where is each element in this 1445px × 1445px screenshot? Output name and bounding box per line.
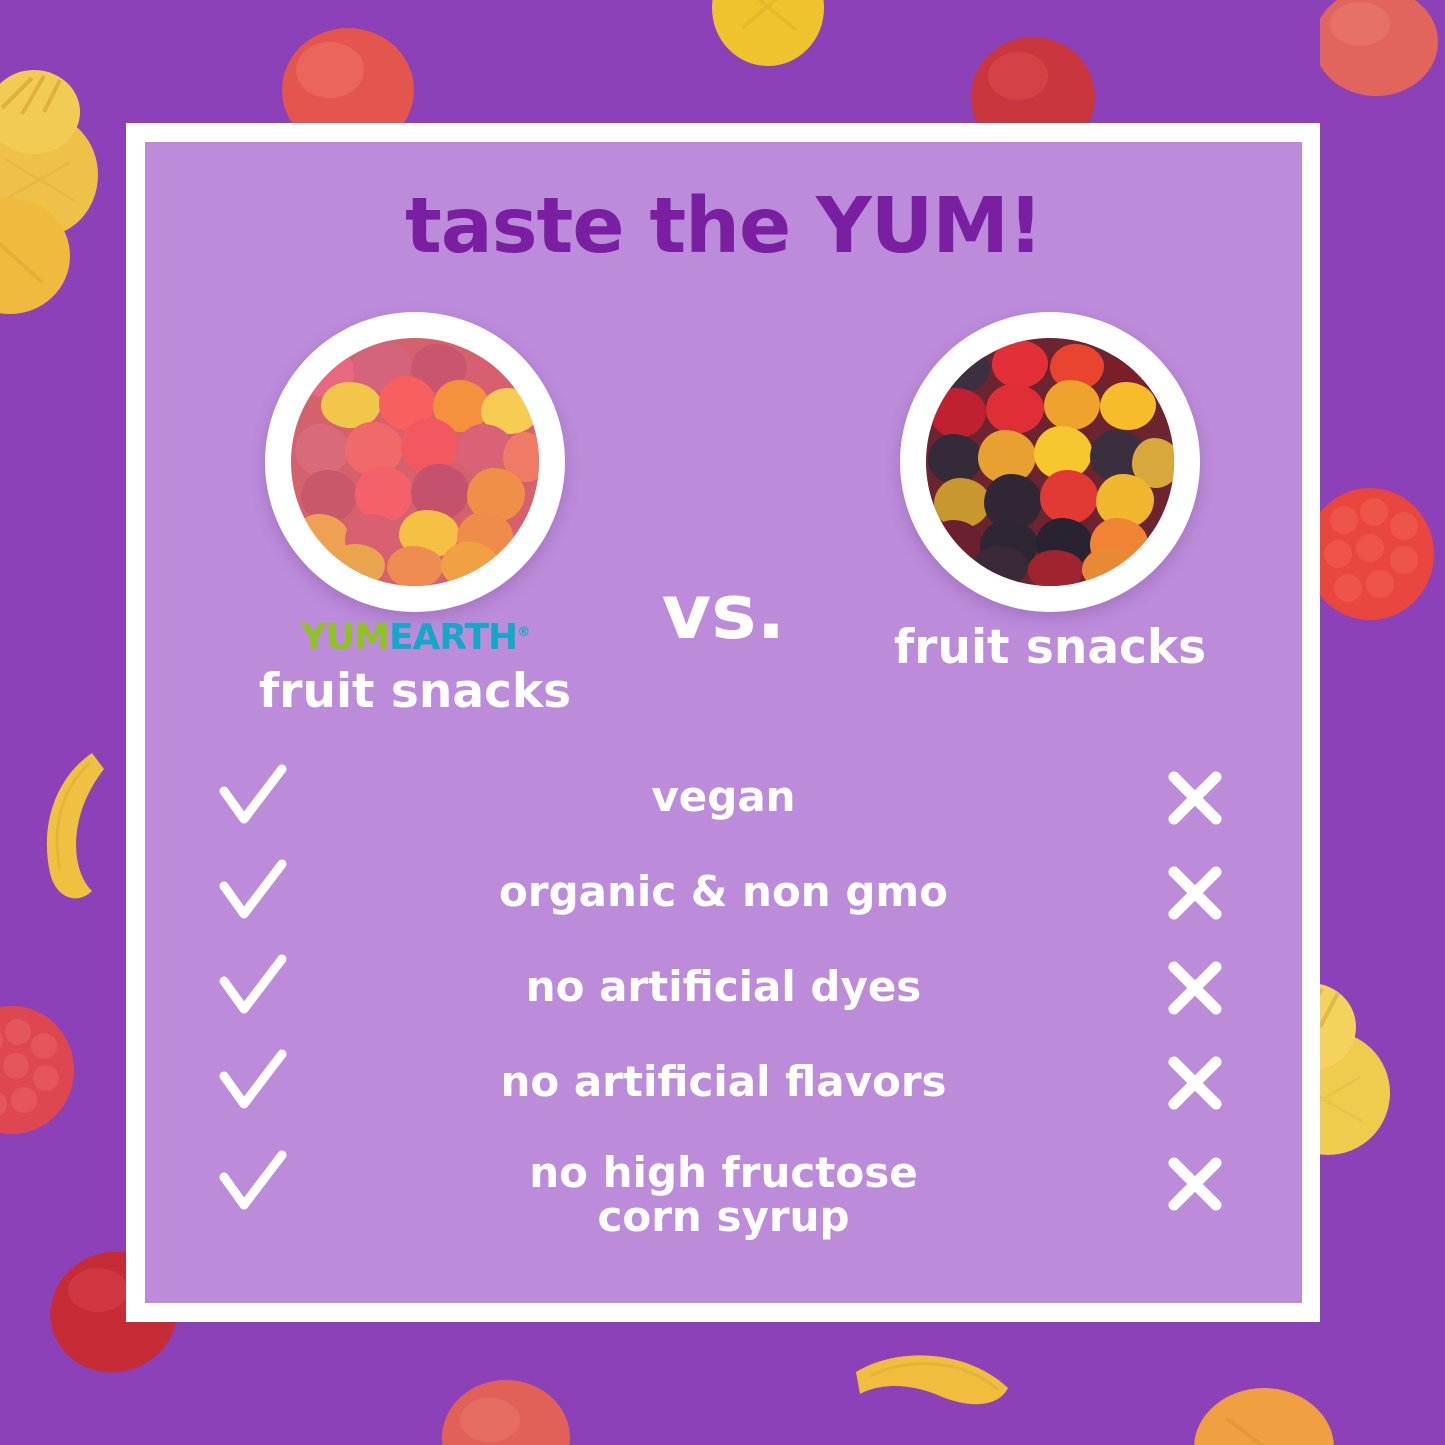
- cross-icon: [1164, 1153, 1226, 1215]
- mango-gummy-left: [0, 190, 78, 325]
- cross-icon: [1164, 1052, 1226, 1114]
- table-row: organic & non gmo: [145, 845, 1302, 940]
- check-icon: [216, 1147, 290, 1221]
- check-icon: [216, 761, 290, 835]
- logo-yum-text: YUM: [301, 617, 389, 658]
- brand-check-cell: [145, 1169, 360, 1221]
- check-icon: [216, 951, 290, 1025]
- yumearth-logo: YUMEARTH®: [185, 620, 645, 656]
- poster-content: taste the YUM!: [145, 142, 1302, 1303]
- pineapple-gummy-top-left: [0, 50, 102, 245]
- peach-gummy-top-far-right: [1320, 0, 1445, 105]
- banana-gummy-bottom-center: [848, 1332, 1018, 1445]
- poster-canvas: taste the YUM!: [0, 0, 1445, 1445]
- raspberry-gummy-right: [1308, 478, 1445, 633]
- competitor-cross-cell: [1087, 1052, 1302, 1114]
- cross-icon: [1164, 957, 1226, 1019]
- check-icon: [216, 1046, 290, 1120]
- feature-label: no artificial flavors: [360, 1060, 1087, 1104]
- bowls-row: vs.: [145, 312, 1302, 612]
- competitor-cross-cell: [1087, 862, 1302, 924]
- feature-label: vegan: [360, 775, 1087, 819]
- competitor-cross-cell: [1087, 1175, 1302, 1215]
- raspberry-gummy-left: [0, 1000, 90, 1145]
- table-row: no artificial flavors: [145, 1035, 1302, 1130]
- comparison-table: vegan organic & non gmo: [145, 750, 1302, 1260]
- cherry-gummy-bottom-center: [438, 1372, 578, 1445]
- competitor-cross-cell: [1087, 957, 1302, 1019]
- check-icon: [216, 856, 290, 930]
- mango-gummy-bottom-right: [1190, 1378, 1340, 1445]
- page-title: taste the YUM!: [145, 182, 1302, 271]
- yumearth-product-label: fruit snacks: [185, 664, 645, 719]
- table-row: no high fructose corn syrup: [145, 1130, 1302, 1260]
- banana-gummy-left: [20, 745, 130, 910]
- competitor-cross-cell: [1087, 767, 1302, 829]
- logo-trademark-symbol: ®: [517, 625, 529, 640]
- competitor-product-label: fruit snacks: [805, 620, 1295, 675]
- brand-check-cell: [145, 761, 360, 835]
- cross-icon: [1164, 767, 1226, 829]
- mango-gummy-top-center: [708, 0, 828, 77]
- logo-earth-text: EARTH: [389, 617, 517, 658]
- brand-check-cell: [145, 1046, 360, 1120]
- brand-check-cell: [145, 951, 360, 1025]
- yumearth-column-label: YUMEARTH® fruit snacks: [185, 620, 645, 719]
- feature-label: no high fructose corn syrup: [489, 1151, 959, 1239]
- brand-check-cell: [145, 856, 360, 930]
- table-row: vegan: [145, 750, 1302, 845]
- feature-label: no artificial dyes: [360, 965, 1087, 1009]
- table-row: no artificial dyes: [145, 940, 1302, 1035]
- feature-label: organic & non gmo: [360, 870, 1087, 914]
- cross-icon: [1164, 862, 1226, 924]
